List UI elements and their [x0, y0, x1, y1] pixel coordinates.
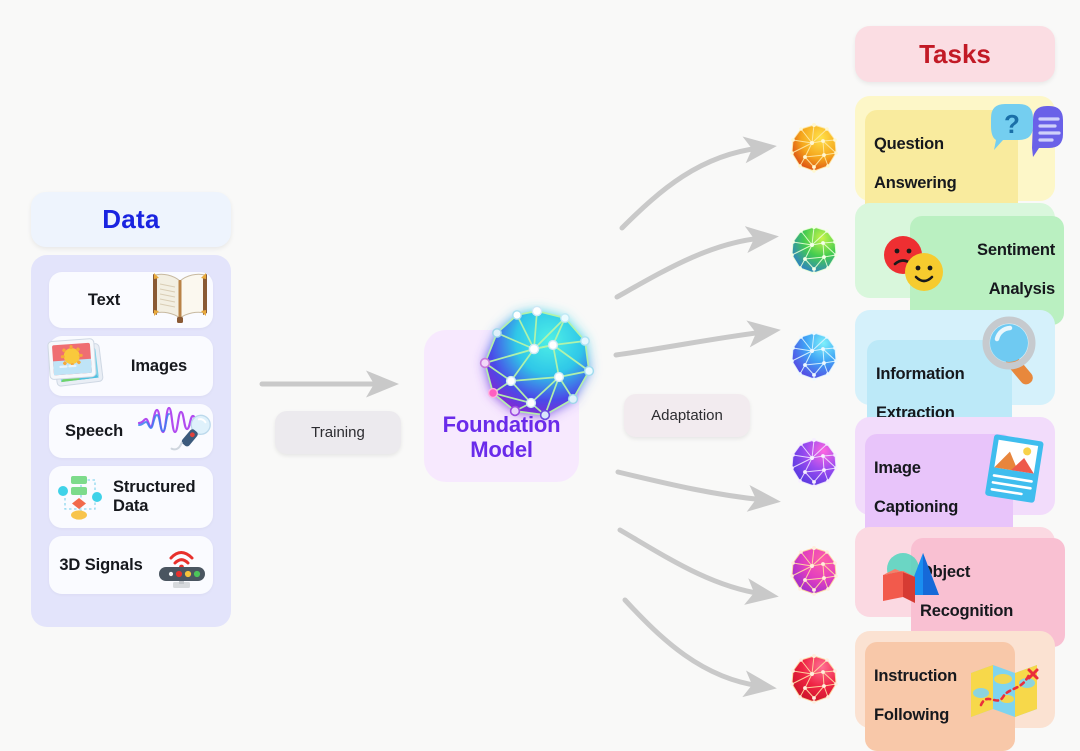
tasks-header: Tasks — [855, 26, 1055, 82]
task-ball-sentiment-analysis — [789, 225, 839, 275]
folded-map-icon — [967, 657, 1053, 723]
task-card-sentiment-analysis[interactable]: Sentiment Analysis — [855, 203, 1055, 298]
task-card-instruction-following[interactable]: Instruction Following — [855, 631, 1055, 728]
task-card-image-captioning[interactable]: Image Captioning — [855, 417, 1055, 515]
training-chip[interactable]: Training — [275, 411, 401, 454]
data-item-label: Structured Data — [113, 478, 195, 515]
photos-icon — [43, 332, 111, 396]
diagram-canvas: Data Text — [0, 0, 1080, 751]
task-ball-information-extraction — [789, 331, 839, 381]
lidar-sensor-icon — [149, 538, 211, 594]
data-panel: Text — [31, 255, 231, 627]
speech-bubbles-question-icon: ? — [983, 100, 1063, 172]
magnifying-glass-icon — [977, 315, 1053, 393]
tasks-header-label: Tasks — [919, 39, 991, 70]
3d-shapes-icon — [875, 547, 953, 611]
task-ball-question-answering — [789, 123, 839, 173]
flowchart-icon — [55, 471, 109, 523]
adaptation-chip[interactable]: Adaptation — [624, 394, 750, 437]
data-header-label: Data — [102, 204, 160, 235]
data-item-label: Images — [131, 357, 187, 375]
adaptation-label: Adaptation — [651, 407, 723, 424]
data-item-speech[interactable]: Speech — [49, 404, 213, 458]
data-item-text[interactable]: Text — [49, 272, 213, 328]
task-card-question-answering[interactable]: Question Answering ? — [855, 96, 1055, 201]
microphone-waveform-icon — [137, 402, 213, 458]
arrow-adaptation-4 — [618, 472, 764, 500]
data-item-3d-signals[interactable]: 3D Signals — [49, 536, 213, 594]
picture-document-icon — [981, 433, 1053, 509]
task-ball-image-captioning — [789, 438, 839, 488]
task-card-object-recognition[interactable]: Object Recognition — [855, 527, 1055, 617]
task-ball-instruction-following — [789, 654, 839, 704]
network-sphere-icon — [479, 305, 595, 421]
foundation-model-line2: Model — [424, 438, 579, 463]
data-item-label: Speech — [65, 422, 123, 440]
data-item-label: 3D Signals — [59, 556, 142, 574]
task-ball-object-recognition — [789, 546, 839, 596]
data-header: Data — [31, 192, 231, 247]
svg-text:?: ? — [1004, 109, 1020, 139]
emoji-faces-icon — [879, 233, 953, 295]
arrow-adaptation-6 — [625, 600, 760, 686]
arrow-adaptation-2 — [617, 238, 762, 297]
foundation-model-label: Foundation Model — [424, 413, 579, 462]
open-book-icon — [149, 267, 211, 325]
foundation-model-line1: Foundation — [424, 413, 579, 438]
data-item-structured-data[interactable]: Structured Data — [49, 466, 213, 528]
arrow-adaptation-5 — [620, 530, 762, 594]
arrow-adaptation-1 — [622, 148, 760, 228]
arrow-adaptation-3 — [616, 332, 764, 355]
training-label: Training — [311, 424, 365, 441]
task-card-information-extraction[interactable]: Information Extraction — [855, 310, 1055, 405]
data-item-label: Text — [88, 291, 120, 309]
data-item-images[interactable]: Images — [49, 336, 213, 396]
